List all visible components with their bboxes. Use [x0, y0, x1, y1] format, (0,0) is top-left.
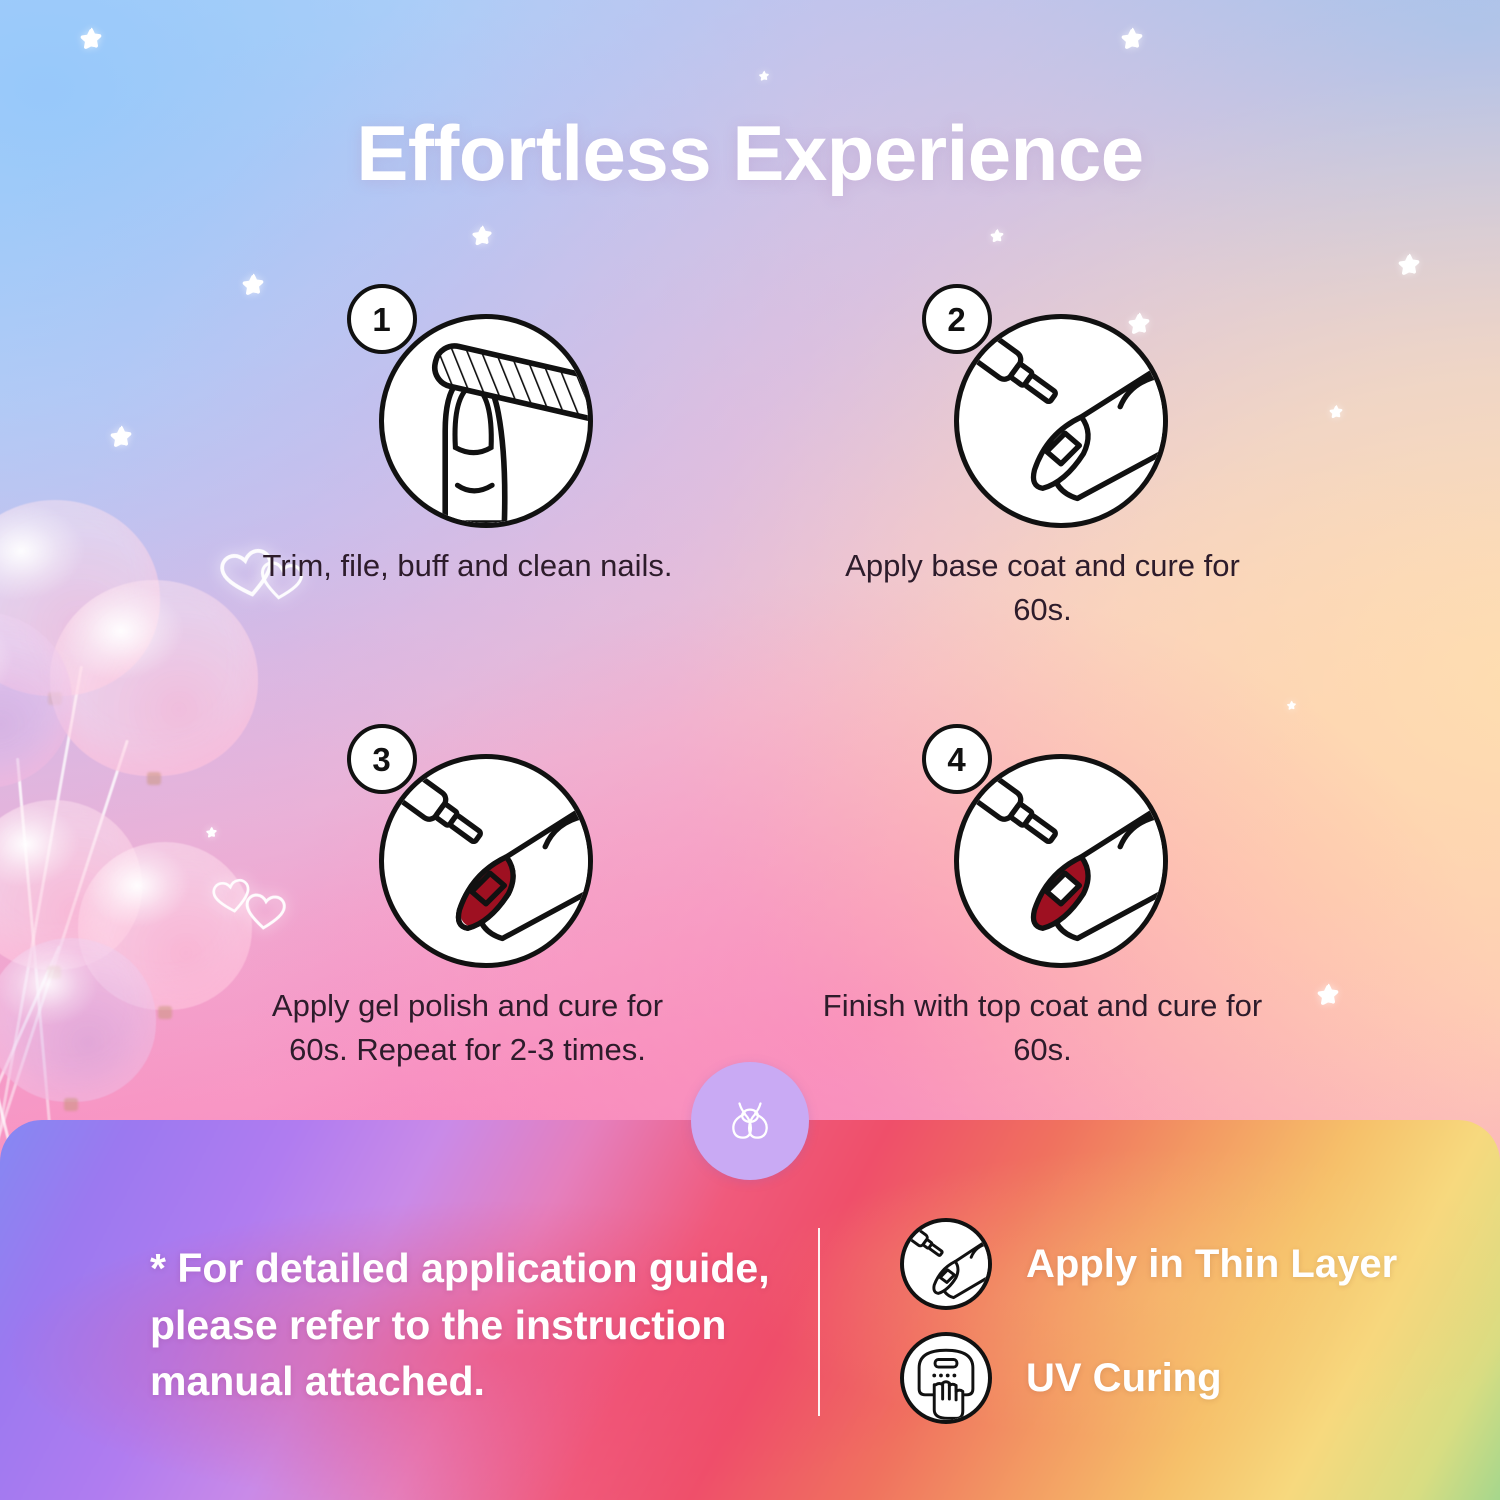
step-4-icon-wrap: 4 — [928, 728, 1158, 958]
uv-lamp-icon — [900, 1332, 992, 1424]
star-icon — [989, 228, 1005, 244]
steps-grid: 1 — [210, 288, 1300, 1072]
footer-feature-list: Apply in Thin Layer — [900, 1218, 1397, 1446]
balloon-knot — [147, 772, 161, 785]
step-2: 2 — [785, 288, 1300, 632]
top-coat-brush-icon — [954, 754, 1168, 968]
step-3-number-badge: 3 — [347, 724, 417, 794]
base-coat-brush-icon — [954, 314, 1168, 528]
footer-note: * For detailed application guide, please… — [150, 1240, 790, 1410]
step-1-caption: Trim, file, buff and clean nails. — [248, 544, 688, 588]
brand-logo-badge — [691, 1062, 809, 1180]
nail-brush-icon — [900, 1218, 992, 1310]
star-icon — [758, 70, 770, 82]
step-2-icon-wrap: 2 — [928, 288, 1158, 518]
promo-graphic: Effortless Experience 1 — [0, 0, 1500, 1500]
star-icon — [1315, 982, 1341, 1008]
step-1-icon-wrap: 1 — [353, 288, 583, 518]
gel-polish-brush-icon — [379, 754, 593, 968]
balloon — [0, 938, 156, 1102]
star-icon — [470, 224, 494, 248]
step-3-icon-wrap: 3 — [353, 728, 583, 958]
balloon-knot — [158, 1006, 172, 1019]
step-1-number-badge: 1 — [347, 284, 417, 354]
step-2-caption: Apply base coat and cure for 60s. — [823, 544, 1263, 632]
butterfly-logo-icon — [722, 1093, 778, 1149]
step-4-number-badge: 4 — [922, 724, 992, 794]
step-3-caption: Apply gel polish and cure for 60s. Repea… — [248, 984, 688, 1072]
star-icon — [1328, 404, 1344, 420]
feature-uv-curing: UV Curing — [900, 1332, 1397, 1424]
star-icon — [1119, 26, 1145, 52]
step-3: 3 — [210, 728, 725, 1072]
step-2-number-badge: 2 — [922, 284, 992, 354]
feature-apply-in-thin-layer: Apply in Thin Layer — [900, 1218, 1397, 1310]
page-title: Effortless Experience — [0, 108, 1500, 199]
star-icon — [108, 424, 134, 450]
nail-file-icon — [379, 314, 593, 528]
feature-label: UV Curing — [1026, 1356, 1222, 1401]
step-4: 4 — [785, 728, 1300, 1072]
step-1: 1 — [210, 288, 725, 632]
balloon-knot — [64, 1098, 78, 1111]
star-icon — [78, 26, 104, 52]
footer-divider — [818, 1228, 820, 1416]
feature-label: Apply in Thin Layer — [1026, 1242, 1397, 1287]
star-icon — [1396, 252, 1422, 278]
step-4-caption: Finish with top coat and cure for 60s. — [823, 984, 1263, 1072]
